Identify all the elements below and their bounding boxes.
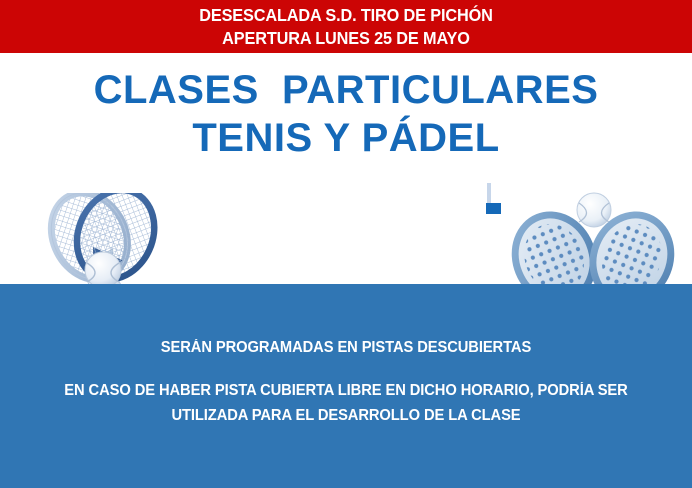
hero-section: CLASES PARTICULARES TENIS Y PÁDEL [0, 53, 692, 284]
banner-line-1: DESESCALADA S.D. TIRO DE PICHÓN [24, 4, 668, 27]
notice-section: SERÁN PROGRAMADAS EN PISTAS DESCUBIERTAS… [0, 284, 692, 488]
title-line-1: CLASES PARTICULARES [0, 66, 692, 114]
notice-body-line-1: EN CASO DE HABER PISTA CUBIERTA LIBRE EN… [17, 382, 674, 400]
title-line-2: TENIS Y PÁDEL [0, 114, 692, 162]
banner-line-2: APERTURA LUNES 25 DE MAYO [24, 27, 668, 50]
page-title: CLASES PARTICULARES TENIS Y PÁDEL [0, 66, 692, 162]
notice-body-line-2: UTILIZADA PARA EL DESARROLLO DE LA CLASE [17, 407, 674, 425]
announcement-banner: DESESCALADA S.D. TIRO DE PICHÓN APERTURA… [0, 0, 692, 53]
edge-artifact-stem [487, 183, 491, 205]
notice-heading: SERÁN PROGRAMADAS EN PISTAS DESCUBIERTAS [17, 339, 674, 357]
poster-canvas: DESESCALADA S.D. TIRO DE PICHÓN APERTURA… [0, 0, 692, 488]
